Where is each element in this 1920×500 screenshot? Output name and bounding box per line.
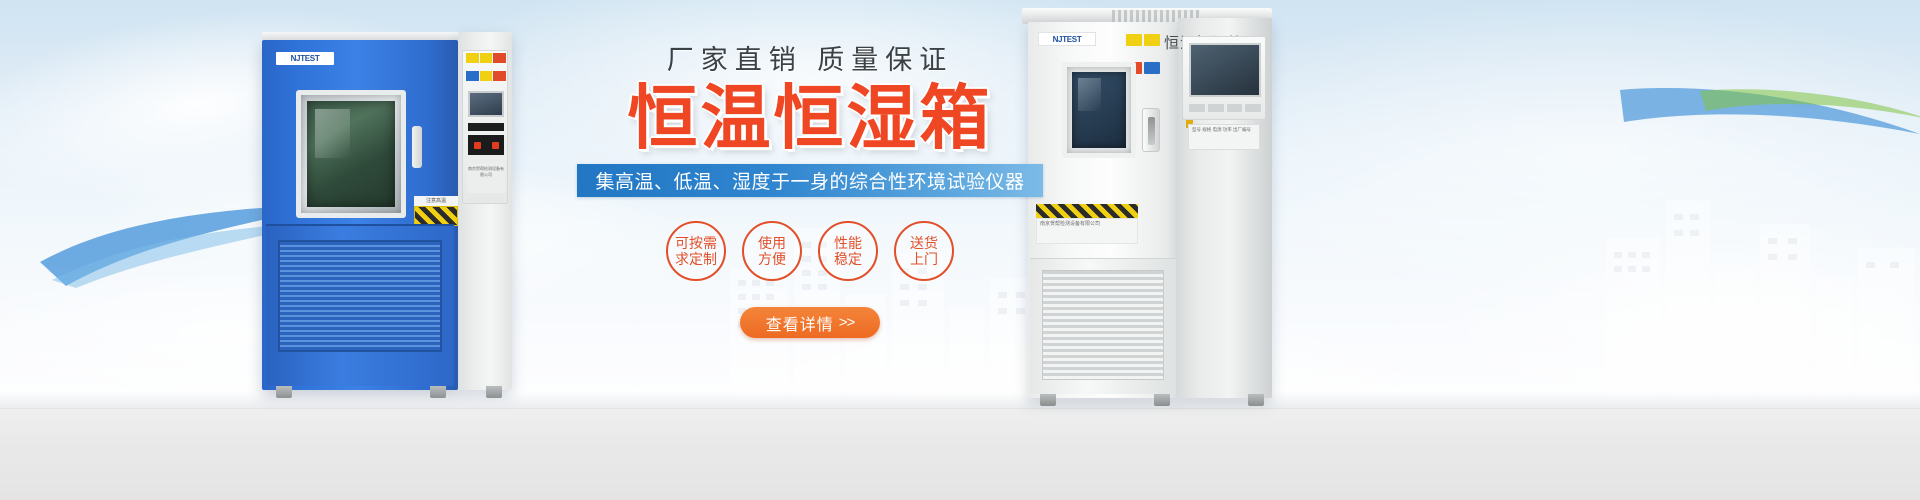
key-button[interactable] (1245, 104, 1261, 112)
view-details-button[interactable]: 查看详情 >> (740, 307, 881, 338)
warning-icon (1126, 34, 1142, 46)
heat-led-icon (492, 142, 499, 149)
door-handle-left (412, 126, 422, 168)
badge-line-2: 稳定 (834, 251, 862, 268)
blue-swoosh-decoration (1620, 80, 1920, 200)
feature-badge-delivery[interactable]: 送货 上门 (894, 221, 954, 281)
machine-foot (1040, 394, 1056, 406)
banner-eyebrow: 厂家直销 质量保证 (560, 46, 1060, 76)
chevron-right-icon: >> (839, 314, 855, 331)
badge-line-2: 求定制 (675, 251, 717, 268)
machine-foot (276, 386, 292, 398)
warning-sticker-group (466, 53, 506, 87)
machine-vent-grille (278, 240, 442, 352)
hot-surface-icon (493, 71, 506, 81)
controller-key-row[interactable] (1189, 101, 1261, 115)
read-manual-icon (466, 71, 479, 81)
handle-grip (1148, 117, 1155, 145)
green-swoosh-decoration (1700, 85, 1920, 155)
grounding-icon (1144, 62, 1160, 74)
badge-line-2: 方便 (758, 251, 786, 268)
banner-headline: 恒温恒湿箱 (560, 82, 1060, 156)
promo-banner: NJTEST 注意高温 (0, 0, 1920, 500)
base-plate (0, 408, 1920, 500)
grounding-icon (480, 71, 493, 81)
indicator-led-group (468, 135, 504, 155)
cta-row: 查看详情 >> (560, 307, 1060, 338)
hazard-caption-left: 注意高温 (414, 196, 458, 206)
hazard-stripe-icon (414, 206, 458, 226)
feature-badge-custom[interactable]: 可按需 求定制 (666, 221, 726, 281)
key-button[interactable] (1208, 104, 1224, 112)
high-voltage-icon (480, 53, 493, 63)
company-nameplate-left: 南京贺帮检测设备有限公司 (467, 163, 505, 193)
feature-badge-easy-use[interactable]: 使用 方便 (742, 221, 802, 281)
badge-line-1: 送货 (910, 235, 938, 252)
key-button[interactable] (1227, 104, 1243, 112)
banner-subtitle-bar: 集高温、低温、湿度于一身的综合性环境试验仪器 (577, 164, 1043, 197)
feature-badge-stable[interactable]: 性能 稳定 (818, 221, 878, 281)
spec-plate-right: 型号 规格 电源 功率 出厂编号 (1188, 124, 1260, 150)
machine-foot (430, 386, 446, 398)
chamber-window-left (296, 90, 406, 218)
machine-vent-grille (1042, 270, 1164, 380)
banner-copy-block: 厂家直销 质量保证 恒温恒湿箱 集高温、低温、湿度于一身的综合性环境试验仪器 可… (560, 46, 1060, 338)
power-led-icon (474, 142, 481, 149)
warning-icon (466, 53, 479, 63)
badge-line-1: 性能 (834, 235, 862, 252)
product-photo-left: NJTEST 注意高温 (262, 28, 512, 400)
cloud-wisp (1180, 0, 1920, 300)
no-water-icon (493, 53, 506, 63)
key-button[interactable] (1189, 104, 1205, 112)
controller-readout-strip (468, 123, 504, 131)
controller-display-right[interactable] (1189, 43, 1261, 97)
door-handle-right[interactable] (1142, 108, 1160, 152)
brand-logo-right: NJTEST (1038, 32, 1096, 46)
ghost-skyline-decoration (1600, 174, 1920, 404)
glass-reflection (315, 109, 350, 158)
brand-logo-left: NJTEST (276, 52, 334, 65)
control-panel-right[interactable] (1182, 36, 1266, 120)
badge-line-1: 可按需 (675, 235, 717, 252)
control-panel-left[interactable]: 南京贺帮检测设备有限公司 (462, 50, 508, 204)
chamber-glass (307, 101, 395, 207)
controller-display-left[interactable] (468, 91, 504, 117)
glass-reflection (1078, 78, 1101, 111)
cta-label: 查看详情 (766, 311, 834, 335)
machine-foot (486, 386, 502, 398)
machine-foot (1154, 394, 1170, 406)
badge-line-2: 上门 (910, 251, 938, 268)
high-voltage-icon (1144, 34, 1160, 46)
chamber-window-right (1062, 62, 1136, 158)
machine-foot (1248, 394, 1264, 406)
feature-badge-row: 可按需 求定制 使用 方便 性能 稳定 送货 上门 (560, 221, 1060, 281)
badge-line-1: 使用 (758, 235, 786, 252)
chamber-glass (1072, 72, 1126, 148)
